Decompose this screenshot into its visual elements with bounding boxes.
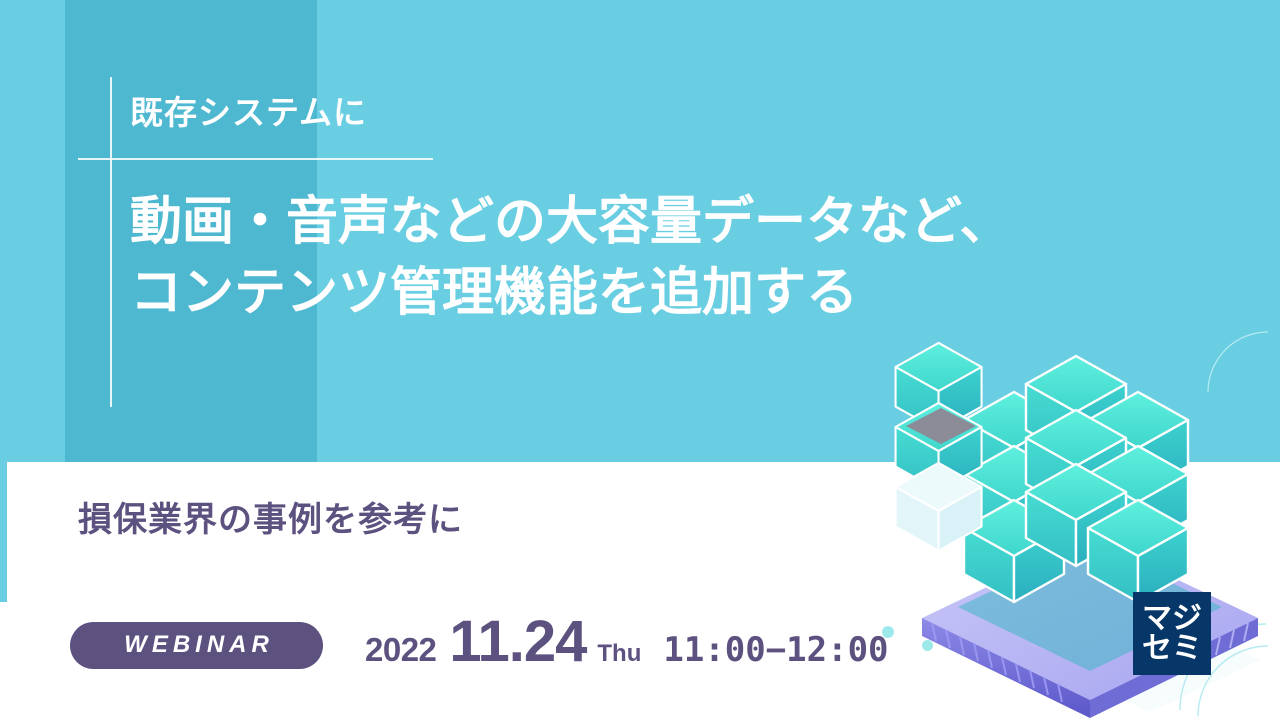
title-line-2: コンテンツ管理機能を追加する [130,258,1011,329]
event-weekday: Thu [597,640,641,668]
event-year: 2022 [365,631,436,669]
vertical-rule [110,77,112,407]
webinar-badge: WEBINAR [70,622,323,669]
accent-dot-icon [922,640,933,651]
event-day: 11.24 [449,608,586,675]
majisemi-logo: マジ セミ [1133,592,1211,675]
left-edge-strip [0,462,7,602]
event-date-row: WEBINAR 2022 11.24 Thu 11:00−12:00 [70,608,889,678]
webinar-banner: 既存システムに 動画・音声などの大容量データなど、 コンテンツ管理機能を追加する… [0,0,1280,720]
page-title: 動画・音声などの大容量データなど、 コンテンツ管理機能を追加する [130,187,1011,328]
logo-line-1: マジ [1142,604,1202,634]
tagline-text: 損保業界の事例を参考に [78,492,463,541]
isometric-cube-illustration [880,330,1280,720]
logo-line-2: セミ [1142,634,1202,664]
title-line-1: 動画・音声などの大容量データなど、 [130,187,1011,258]
eyebrow-text: 既存システムに [130,93,367,133]
horizontal-rule [78,158,433,160]
event-time: 11:00−12:00 [663,630,888,670]
